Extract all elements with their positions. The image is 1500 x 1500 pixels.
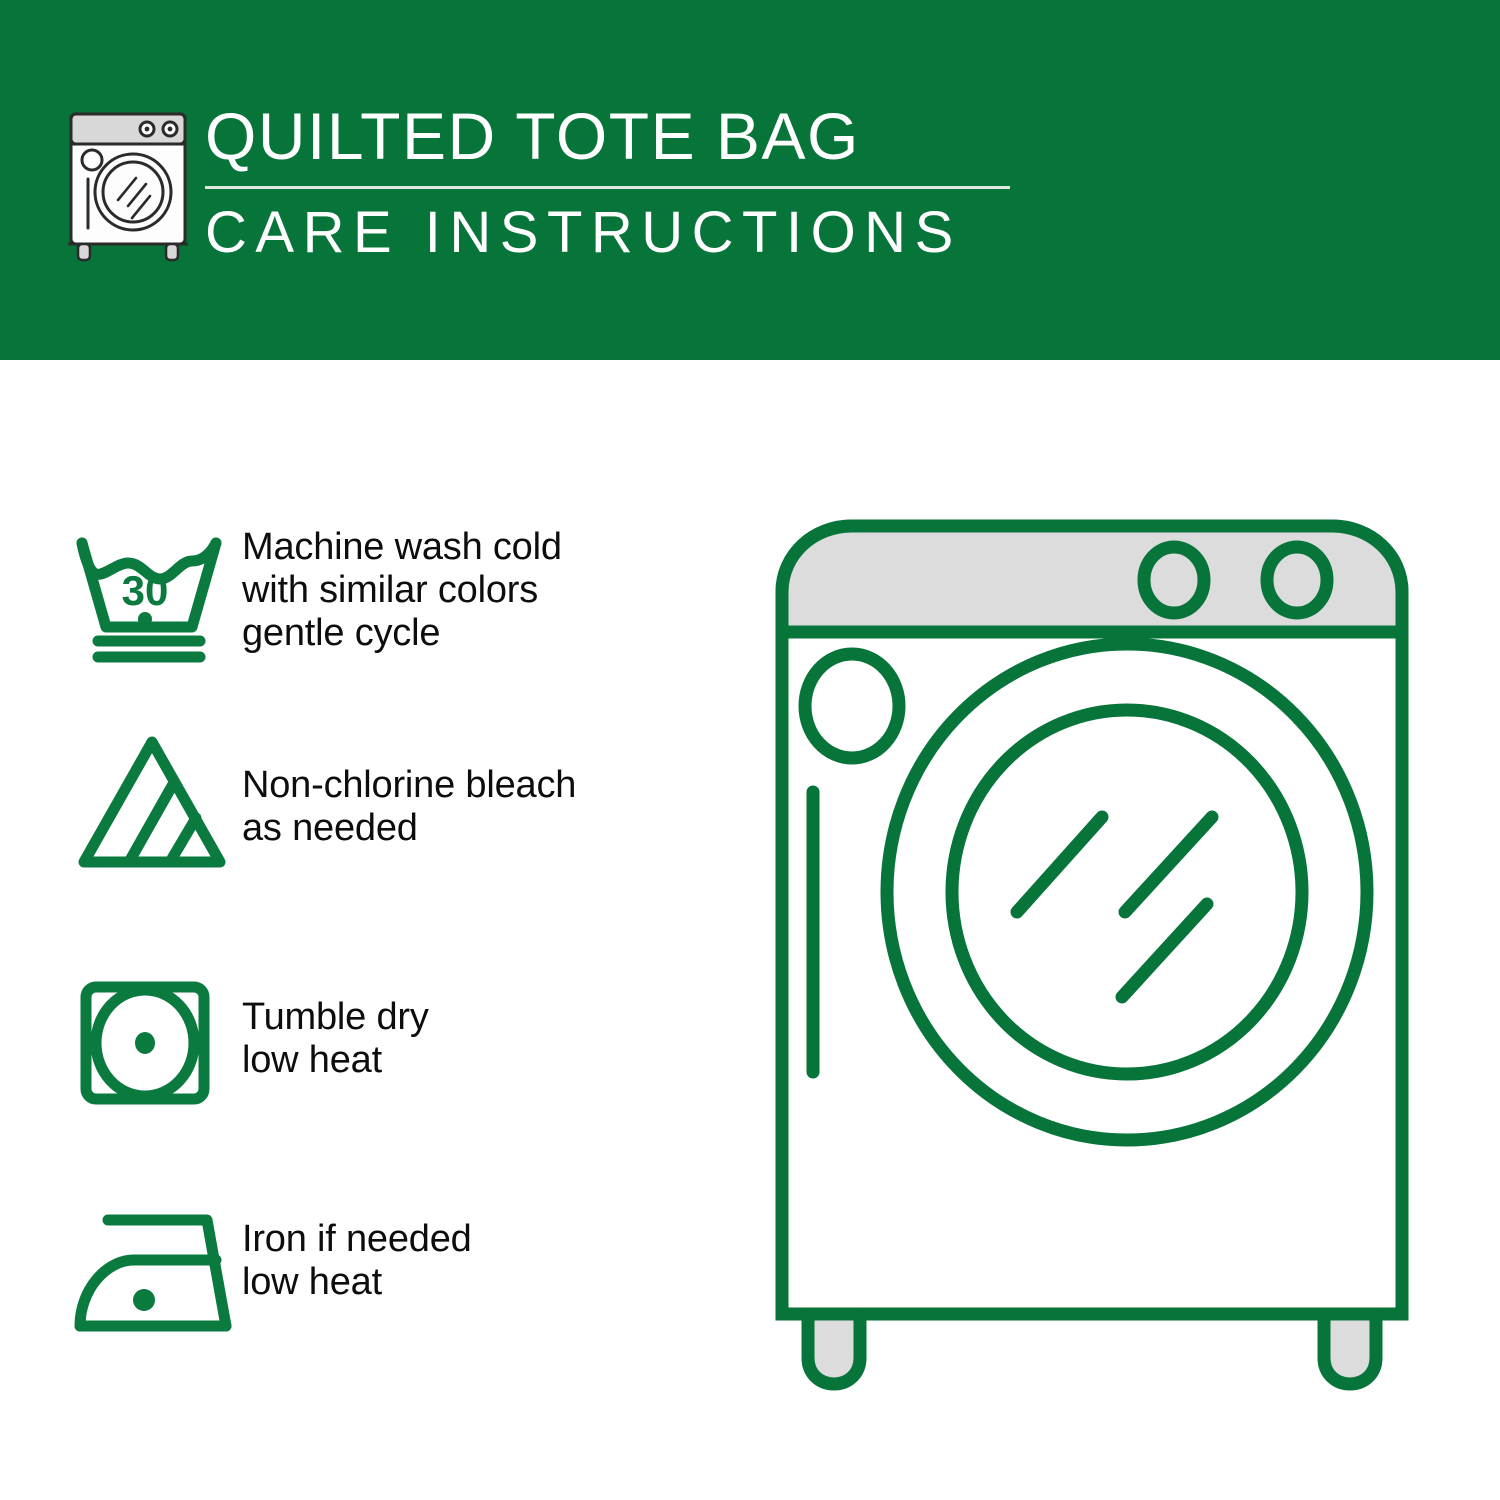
washer-leg-left [808,1314,860,1384]
header-text-block: QUILTED TOTE BAG CARE INSTRUCTIONS [205,100,1085,265]
washer-knob-right [1267,547,1327,613]
washing-machine-icon [62,108,194,263]
page-subtitle: CARE INSTRUCTIONS [205,201,1085,265]
wash-temperature-value: 30 [122,567,169,614]
care-symbol-list: 30 Machine wash cold with similar colors… [0,360,740,1500]
care-item-label: Iron if needed low heat [242,1198,472,1304]
care-item-label: Non-chlorine bleach as needed [242,728,576,850]
machine-wash-30-gentle-icon: 30 [72,522,242,672]
page-title: QUILTED TOTE BAG [205,100,1085,172]
care-item-label: Tumble dry low heat [242,968,429,1082]
care-item-bleach: Non-chlorine bleach as needed [72,728,722,878]
non-chlorine-bleach-icon [72,728,242,878]
care-item-tumble-dry: Tumble dry low heat [72,968,722,1118]
care-item-label: Machine wash cold with similar colors ge… [242,522,562,655]
washer-leg-right [1324,1314,1376,1384]
tumble-dry-low-icon [72,968,242,1118]
washer-knob-left [1144,547,1204,613]
washer-dial [805,654,899,758]
washer-drum-inner [952,710,1302,1074]
title-divider [205,186,1010,189]
care-instructions-page: QUILTED TOTE BAG CARE INSTRUCTIONS [0,0,1500,1500]
iron-low-heat-icon [72,1198,242,1348]
header-band: QUILTED TOTE BAG CARE INSTRUCTIONS [0,0,1500,360]
care-item-machine-wash: 30 Machine wash cold with similar colors… [72,522,722,672]
front-load-washing-machine-illustration [742,492,1442,1412]
care-item-iron: Iron if needed low heat [72,1198,722,1348]
